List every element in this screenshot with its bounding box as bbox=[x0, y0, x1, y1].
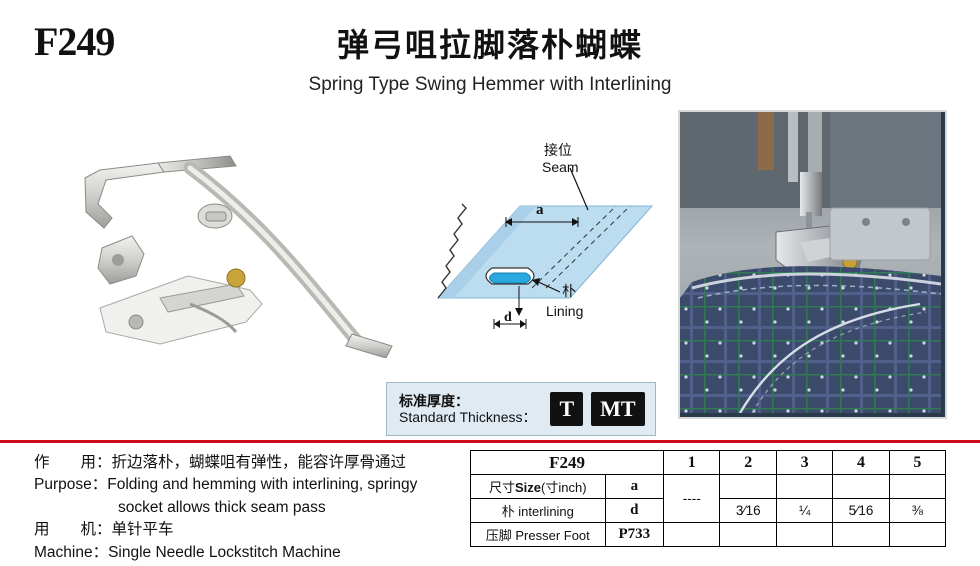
spec-cell-d-2: 3⁄16 bbox=[720, 499, 777, 523]
spec-col-1: 1 bbox=[664, 451, 720, 475]
spec-col-3: 3 bbox=[776, 451, 832, 475]
spec-col-2: 2 bbox=[720, 451, 777, 475]
purpose-cn-key: 作 用： bbox=[34, 452, 112, 474]
spec-cell-1-merged: ---- bbox=[664, 475, 720, 523]
spec-symbol-presser: P733 bbox=[605, 523, 664, 547]
description-block: 作 用： 折边落朴，蝴蝶咀有弹性，能容许厚骨通过 Purpose： Foldin… bbox=[34, 452, 464, 564]
spec-col-5: 5 bbox=[889, 451, 945, 475]
spec-row-label-presser: 压脚 Presser Foot bbox=[471, 523, 606, 547]
diagram-seam-cn: 接位 bbox=[544, 142, 572, 159]
purpose-en-value: Folding and hemming with interlining, sp… bbox=[107, 474, 417, 496]
hem-diagram: 接位 Seam a d 朴 Lining bbox=[420, 110, 670, 360]
table-row: 压脚 Presser Foot P733 bbox=[471, 523, 946, 547]
purpose-en-value-cont: socket allows thick seam pass bbox=[34, 497, 464, 519]
spec-row-label-interlining: 朴 interlining bbox=[471, 499, 606, 523]
standard-thickness-badge: 标准厚度： Standard Thickness： T MT bbox=[386, 382, 656, 436]
page-title-cn: 弹弓咀拉脚落朴蝴蝶 bbox=[0, 20, 980, 66]
machine-en-key: Machine： bbox=[34, 542, 108, 564]
spec-cell-p-1 bbox=[664, 523, 720, 547]
spec-col-4: 4 bbox=[833, 451, 890, 475]
spec-row-size-unit: (寸inch) bbox=[541, 480, 587, 495]
purpose-en-key: Purpose： bbox=[34, 474, 107, 496]
divider-rule bbox=[0, 440, 980, 443]
spec-table: F249 1 2 3 4 5 尺寸Size(寸inch) a ---- 朴 in… bbox=[470, 450, 946, 547]
spec-row-interlining-en: interlining bbox=[518, 504, 574, 519]
thickness-option-mt: MT bbox=[591, 392, 644, 426]
machine-cn-value: 单针平车 bbox=[112, 519, 174, 541]
thickness-label-en: Standard Thickness： bbox=[399, 409, 536, 425]
spec-cell-a-2 bbox=[720, 475, 777, 499]
spec-cell-a-5 bbox=[889, 475, 945, 499]
diagram-dim-d: d bbox=[504, 310, 512, 325]
diagram-seam-en: Seam bbox=[542, 159, 579, 175]
spec-row-presser-cn: 压脚 bbox=[486, 528, 512, 543]
spec-cell-p-5 bbox=[889, 523, 945, 547]
table-row: 尺寸Size(寸inch) a ---- bbox=[471, 475, 946, 499]
machine-photo-right bbox=[678, 110, 947, 419]
thickness-labels: 标准厚度： Standard Thickness： bbox=[387, 393, 536, 425]
spec-row-interlining-cn: 朴 bbox=[502, 504, 515, 519]
spec-row-size-cn: 尺寸 bbox=[489, 480, 515, 495]
page-root: F249 弹弓咀拉脚落朴蝴蝶 Spring Type Swing Hemmer … bbox=[0, 0, 980, 566]
purpose-cn-value: 折边落朴，蝴蝶咀有弹性，能容许厚骨通过 bbox=[112, 452, 407, 474]
product-photo-left bbox=[40, 108, 420, 358]
diagram-dim-a: a bbox=[536, 202, 544, 218]
spec-cell-a-3 bbox=[776, 475, 832, 499]
spec-cell-d-3: ¼ bbox=[776, 499, 832, 523]
spec-row-presser-en: Presser Foot bbox=[515, 528, 589, 543]
table-header-row: F249 1 2 3 4 5 bbox=[471, 451, 946, 475]
purpose-en-row: Purpose： Folding and hemming with interl… bbox=[34, 474, 464, 496]
diagram-lining-en: Lining bbox=[546, 303, 583, 319]
machine-cn-key: 用 机： bbox=[34, 519, 112, 541]
machine-cn-row: 用 机： 单针平车 bbox=[34, 519, 464, 541]
spec-row-label-size: 尺寸Size(寸inch) bbox=[471, 475, 606, 499]
purpose-cn-row: 作 用： 折边落朴，蝴蝶咀有弹性，能容许厚骨通过 bbox=[34, 452, 464, 474]
page-title-en: Spring Type Swing Hemmer with Interlinin… bbox=[0, 74, 980, 96]
thickness-option-t: T bbox=[550, 392, 583, 426]
thickness-label-cn: 标准厚度： bbox=[399, 393, 536, 409]
spec-cell-d-5: ⅜ bbox=[889, 499, 945, 523]
spec-cell-p-3 bbox=[776, 523, 832, 547]
spec-row-size-en: Size bbox=[515, 480, 541, 495]
machine-en-value: Single Needle Lockstitch Machine bbox=[108, 542, 341, 564]
spec-cell-p-2 bbox=[720, 523, 777, 547]
spec-symbol-a: a bbox=[605, 475, 664, 499]
spec-symbol-d: d bbox=[605, 499, 664, 523]
machine-en-row: Machine： Single Needle Lockstitch Machin… bbox=[34, 542, 464, 564]
spec-cell-a-4 bbox=[833, 475, 890, 499]
spec-model: F249 bbox=[471, 451, 664, 475]
thickness-options: T MT bbox=[550, 392, 644, 426]
diagram-lining-cn: 朴 bbox=[562, 284, 576, 300]
spec-cell-d-4: 5⁄16 bbox=[833, 499, 890, 523]
spec-cell-p-4 bbox=[833, 523, 890, 547]
